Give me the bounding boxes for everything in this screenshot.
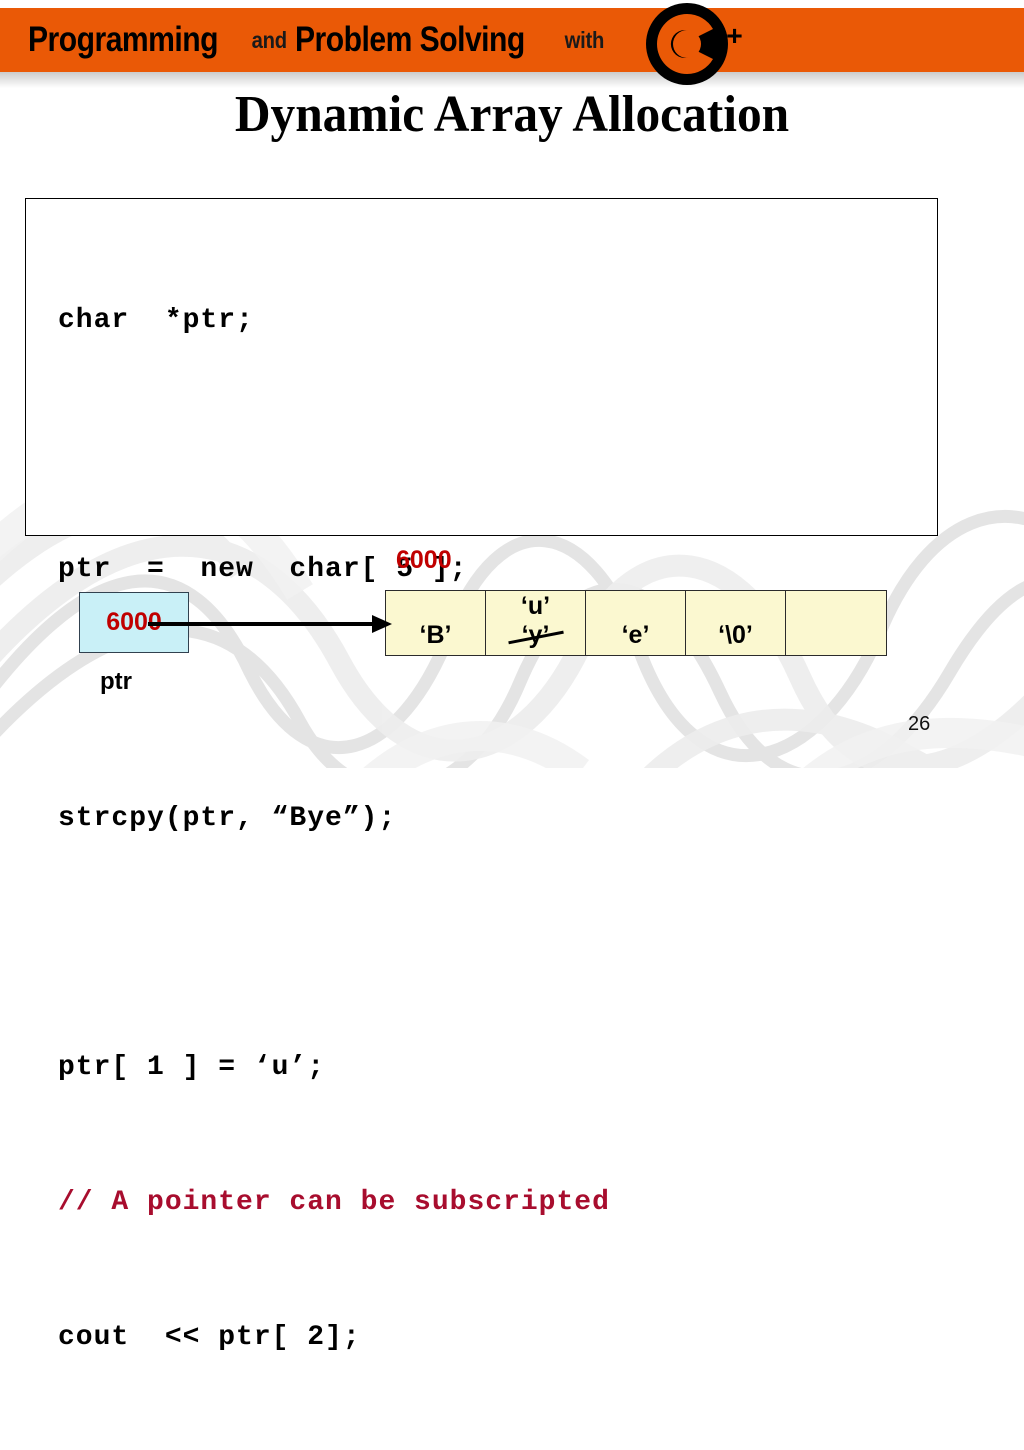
banner-word-problem-solving: Problem Solving	[295, 20, 525, 60]
banner-title: Programming and Problem Solving with	[28, 8, 613, 72]
code-line-blank	[58, 931, 610, 955]
code-line: char *ptr;	[58, 298, 610, 343]
code-block: char *ptr; ptr = new char[ 5 ]; strcpy(p…	[25, 198, 938, 536]
array-cell-value: ‘e’	[622, 623, 650, 648]
array-cell: ‘\0’	[686, 591, 786, 655]
array-cell-overwritten: ‘u’ ‘y’	[486, 591, 586, 655]
page-title: Dynamic Array Allocation	[26, 85, 999, 144]
code-line-blank	[58, 682, 610, 706]
code-line: ptr = new char[ 5 ];	[58, 547, 610, 592]
heap-array: ‘B’ ‘u’ ‘y’ ‘e’ ‘\0’	[385, 590, 887, 656]
strike-through-line	[508, 631, 563, 644]
array-cell: ‘e’	[586, 591, 686, 655]
array-cell-new-value: ‘u’	[486, 594, 585, 619]
array-cell-value: ‘B’	[420, 623, 452, 648]
array-cell-value: ‘\0’	[718, 623, 753, 648]
banner-word-and: and	[249, 27, 289, 54]
array-cell-old-value: ‘y’	[522, 623, 550, 648]
code-lines: char *ptr; ptr = new char[ 5 ]; strcpy(p…	[58, 208, 610, 1450]
code-line-blank	[58, 433, 610, 457]
array-cell-empty	[786, 591, 886, 655]
banner-word-with: with	[562, 27, 607, 54]
pointer-variable-label: ptr	[100, 668, 132, 696]
code-line: ptr[ 1 ] = ‘u’;	[58, 1045, 610, 1090]
code-line: cout << ptr[ 2];	[58, 1315, 610, 1360]
page-number: 26	[908, 713, 930, 736]
code-line: strcpy(ptr, “Bye”);	[58, 796, 610, 841]
code-line-comment: // A pointer can be subscripted	[58, 1180, 610, 1225]
cpp-plus-plus-label: ++	[712, 22, 741, 50]
pointer-arrow-icon	[148, 608, 392, 640]
array-cell: ‘B’	[386, 591, 486, 655]
array-address-label: 6000	[396, 546, 452, 575]
banner-word-programming: Programming	[28, 20, 218, 60]
